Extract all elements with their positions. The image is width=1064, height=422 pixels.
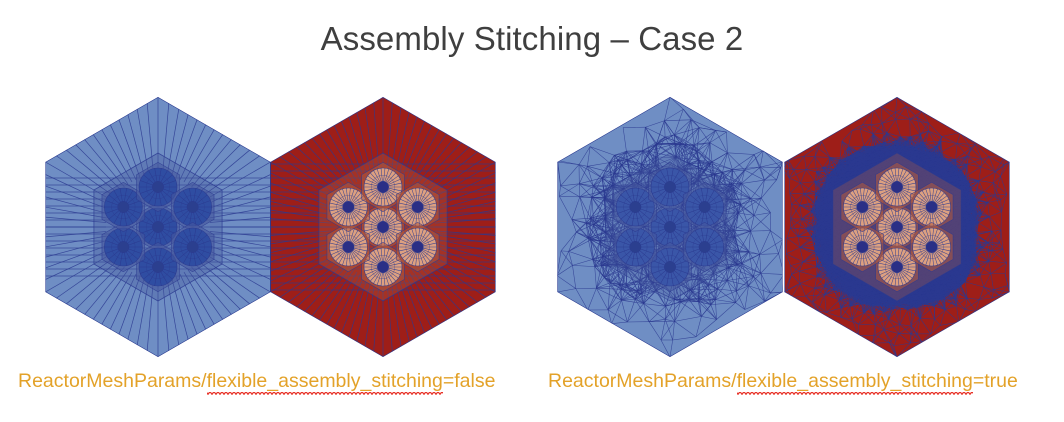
figure-rigid-stitching [18, 88, 530, 366]
caption-suffix: =true [973, 370, 1018, 392]
caption-flexible-stitching: ReactorMeshParams/flexible_assembly_stit… [548, 370, 1018, 393]
mesh-diagram-flexible [530, 88, 1046, 366]
figure-flexible-stitching [530, 88, 1046, 366]
page-title: Assembly Stitching – Case 2 [0, 20, 1064, 58]
caption-suffix: =false [443, 370, 496, 392]
caption-rigid-stitching: ReactorMeshParams/flexible_assembly_stit… [18, 370, 495, 393]
caption-prefix: ReactorMeshParams/ [548, 370, 737, 392]
caption-flagged-term: flexible_assembly_stitching [737, 370, 973, 395]
caption-flagged-term: flexible_assembly_stitching [207, 370, 443, 395]
caption-prefix: ReactorMeshParams/ [18, 370, 207, 392]
slide-canvas: Assembly Stitching – Case 2 ReactorMeshP… [0, 0, 1064, 422]
mesh-diagram-rigid [18, 88, 530, 366]
